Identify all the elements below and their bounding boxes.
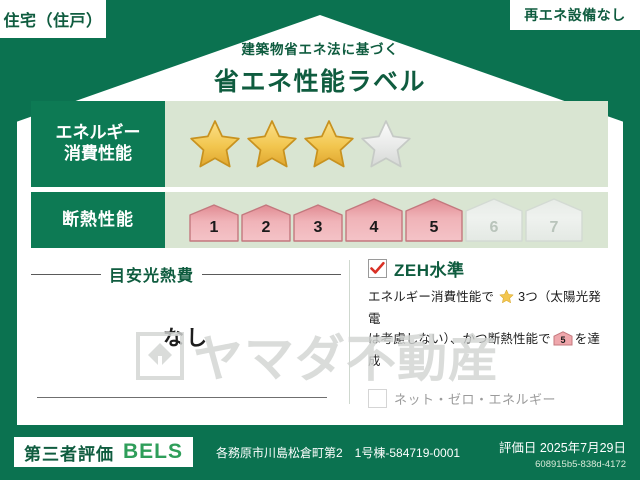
- zeh-section: ZEH水準 エネルギー消費性能で 3つ（太陽光発電 は考慮しない）、かつ断熱性能…: [362, 256, 608, 414]
- insulation-grade-badge: 2: [241, 204, 291, 242]
- insulation-performance-value: 1234567: [165, 192, 608, 248]
- zeh-description: エネルギー消費性能で 3つ（太陽光発電 は考慮しない）、かつ断熱性能で 5 を達…: [368, 288, 608, 372]
- insulation-grade-badge: 7: [525, 198, 583, 242]
- cost-heading-rule-left: [31, 274, 101, 275]
- net-zero-energy-checkbox: [368, 389, 387, 408]
- footer-meta: 評価日 2025年7月29日 608915b5-838d-4172: [499, 437, 626, 470]
- insulation-grade-number: 5: [405, 219, 463, 237]
- zeh-checkbox: [368, 259, 387, 278]
- label-title-block: 建築物省エネ法に基づく 省エネ性能ラベル: [0, 38, 640, 98]
- utility-cost-section: 目安光熱費 なし: [31, 256, 341, 414]
- insulation-grade-number: 7: [525, 219, 583, 237]
- zeh-title: ZEH水準: [394, 256, 465, 281]
- page-title: 省エネ性能ラベル: [0, 62, 640, 98]
- insulation-grade-badge: 6: [465, 198, 523, 242]
- insulation-grade-scale: 1234567: [189, 198, 583, 242]
- evaluation-date: 評価日 2025年7月29日: [499, 437, 626, 456]
- section-divider: [349, 260, 350, 404]
- energy-performance-label: 住宅（住戸） 再エネ設備なし 建築物省エネ法に基づく 省エネ性能ラベル エネルギ…: [0, 0, 640, 480]
- bels-badge: 第三者評価 BELS: [14, 437, 193, 467]
- star-filled-icon: [246, 118, 298, 170]
- utility-cost-heading-text: 目安光熱費: [109, 262, 194, 286]
- dwelling-type-tag: 住宅（住戸）: [0, 0, 106, 38]
- insulation-grade-badge: 1: [189, 204, 239, 242]
- star-empty-icon: [360, 118, 412, 170]
- insulation-grade-number: 4: [345, 219, 403, 237]
- insulation-performance-label: 断熱性能: [31, 192, 165, 248]
- zeh-desc-part1: エネルギー消費性能で: [368, 290, 494, 304]
- cost-heading-rule-right: [202, 274, 341, 275]
- insulation-grade-number: 1: [189, 219, 239, 237]
- property-address: 各務原市川島松倉町第2 1号棟-584719-0001: [216, 444, 460, 461]
- energy-performance-label-line2: 消費性能: [64, 144, 132, 165]
- label-id: 608915b5-838d-4172: [499, 459, 626, 470]
- inline-star-icon: [495, 293, 517, 307]
- insulation-performance-row: 断熱性能 1234567: [31, 192, 608, 248]
- star-filled-icon: [303, 118, 355, 170]
- renewable-equipment-tag: 再エネ設備なし: [510, 0, 640, 30]
- energy-performance-label: エネルギー 消費性能: [31, 101, 165, 187]
- utility-cost-heading: 目安光熱費: [31, 262, 341, 286]
- insulation-grade-badge: 4: [345, 198, 403, 242]
- net-zero-energy-row: ネット・ゼロ・エネルギー: [368, 389, 608, 408]
- utility-cost-underline: [37, 397, 327, 398]
- title-subtitle: 建築物省エネ法に基づく: [0, 38, 640, 58]
- star-rating: [189, 118, 412, 170]
- insulation-grade-number: 6: [465, 219, 523, 237]
- zeh-desc-part2: は考慮しない）、かつ断熱性能で: [368, 332, 551, 346]
- star-filled-icon: [189, 118, 241, 170]
- energy-performance-value: [165, 101, 608, 187]
- zeh-standard-row: ZEH水準: [368, 256, 608, 281]
- lower-info-area: 目安光熱費 なし ZEH水準 エネルギー消費性能で: [31, 256, 608, 414]
- inline-insulation-badge: 5: [553, 331, 573, 352]
- utility-cost-value: なし: [31, 322, 341, 352]
- footer-bar: 第三者評価 BELS 各務原市川島松倉町第2 1号棟-584719-0001 評…: [0, 428, 640, 480]
- insulation-grade-badge: 5: [405, 198, 463, 242]
- energy-performance-row: エネルギー 消費性能: [31, 101, 608, 187]
- energy-performance-label-line1: エネルギー: [56, 123, 141, 144]
- insulation-grade-badge: 3: [293, 204, 343, 242]
- bels-label: BELS: [123, 440, 183, 464]
- insulation-grade-number: 2: [241, 219, 291, 237]
- svg-text:5: 5: [560, 335, 565, 345]
- third-party-evaluation-label: 第三者評価: [24, 440, 114, 465]
- performance-content: エネルギー 消費性能 断熱性能 1234567 目安光熱費 なし: [31, 101, 608, 414]
- insulation-grade-number: 3: [293, 219, 343, 237]
- net-zero-energy-label: ネット・ゼロ・エネルギー: [394, 389, 556, 408]
